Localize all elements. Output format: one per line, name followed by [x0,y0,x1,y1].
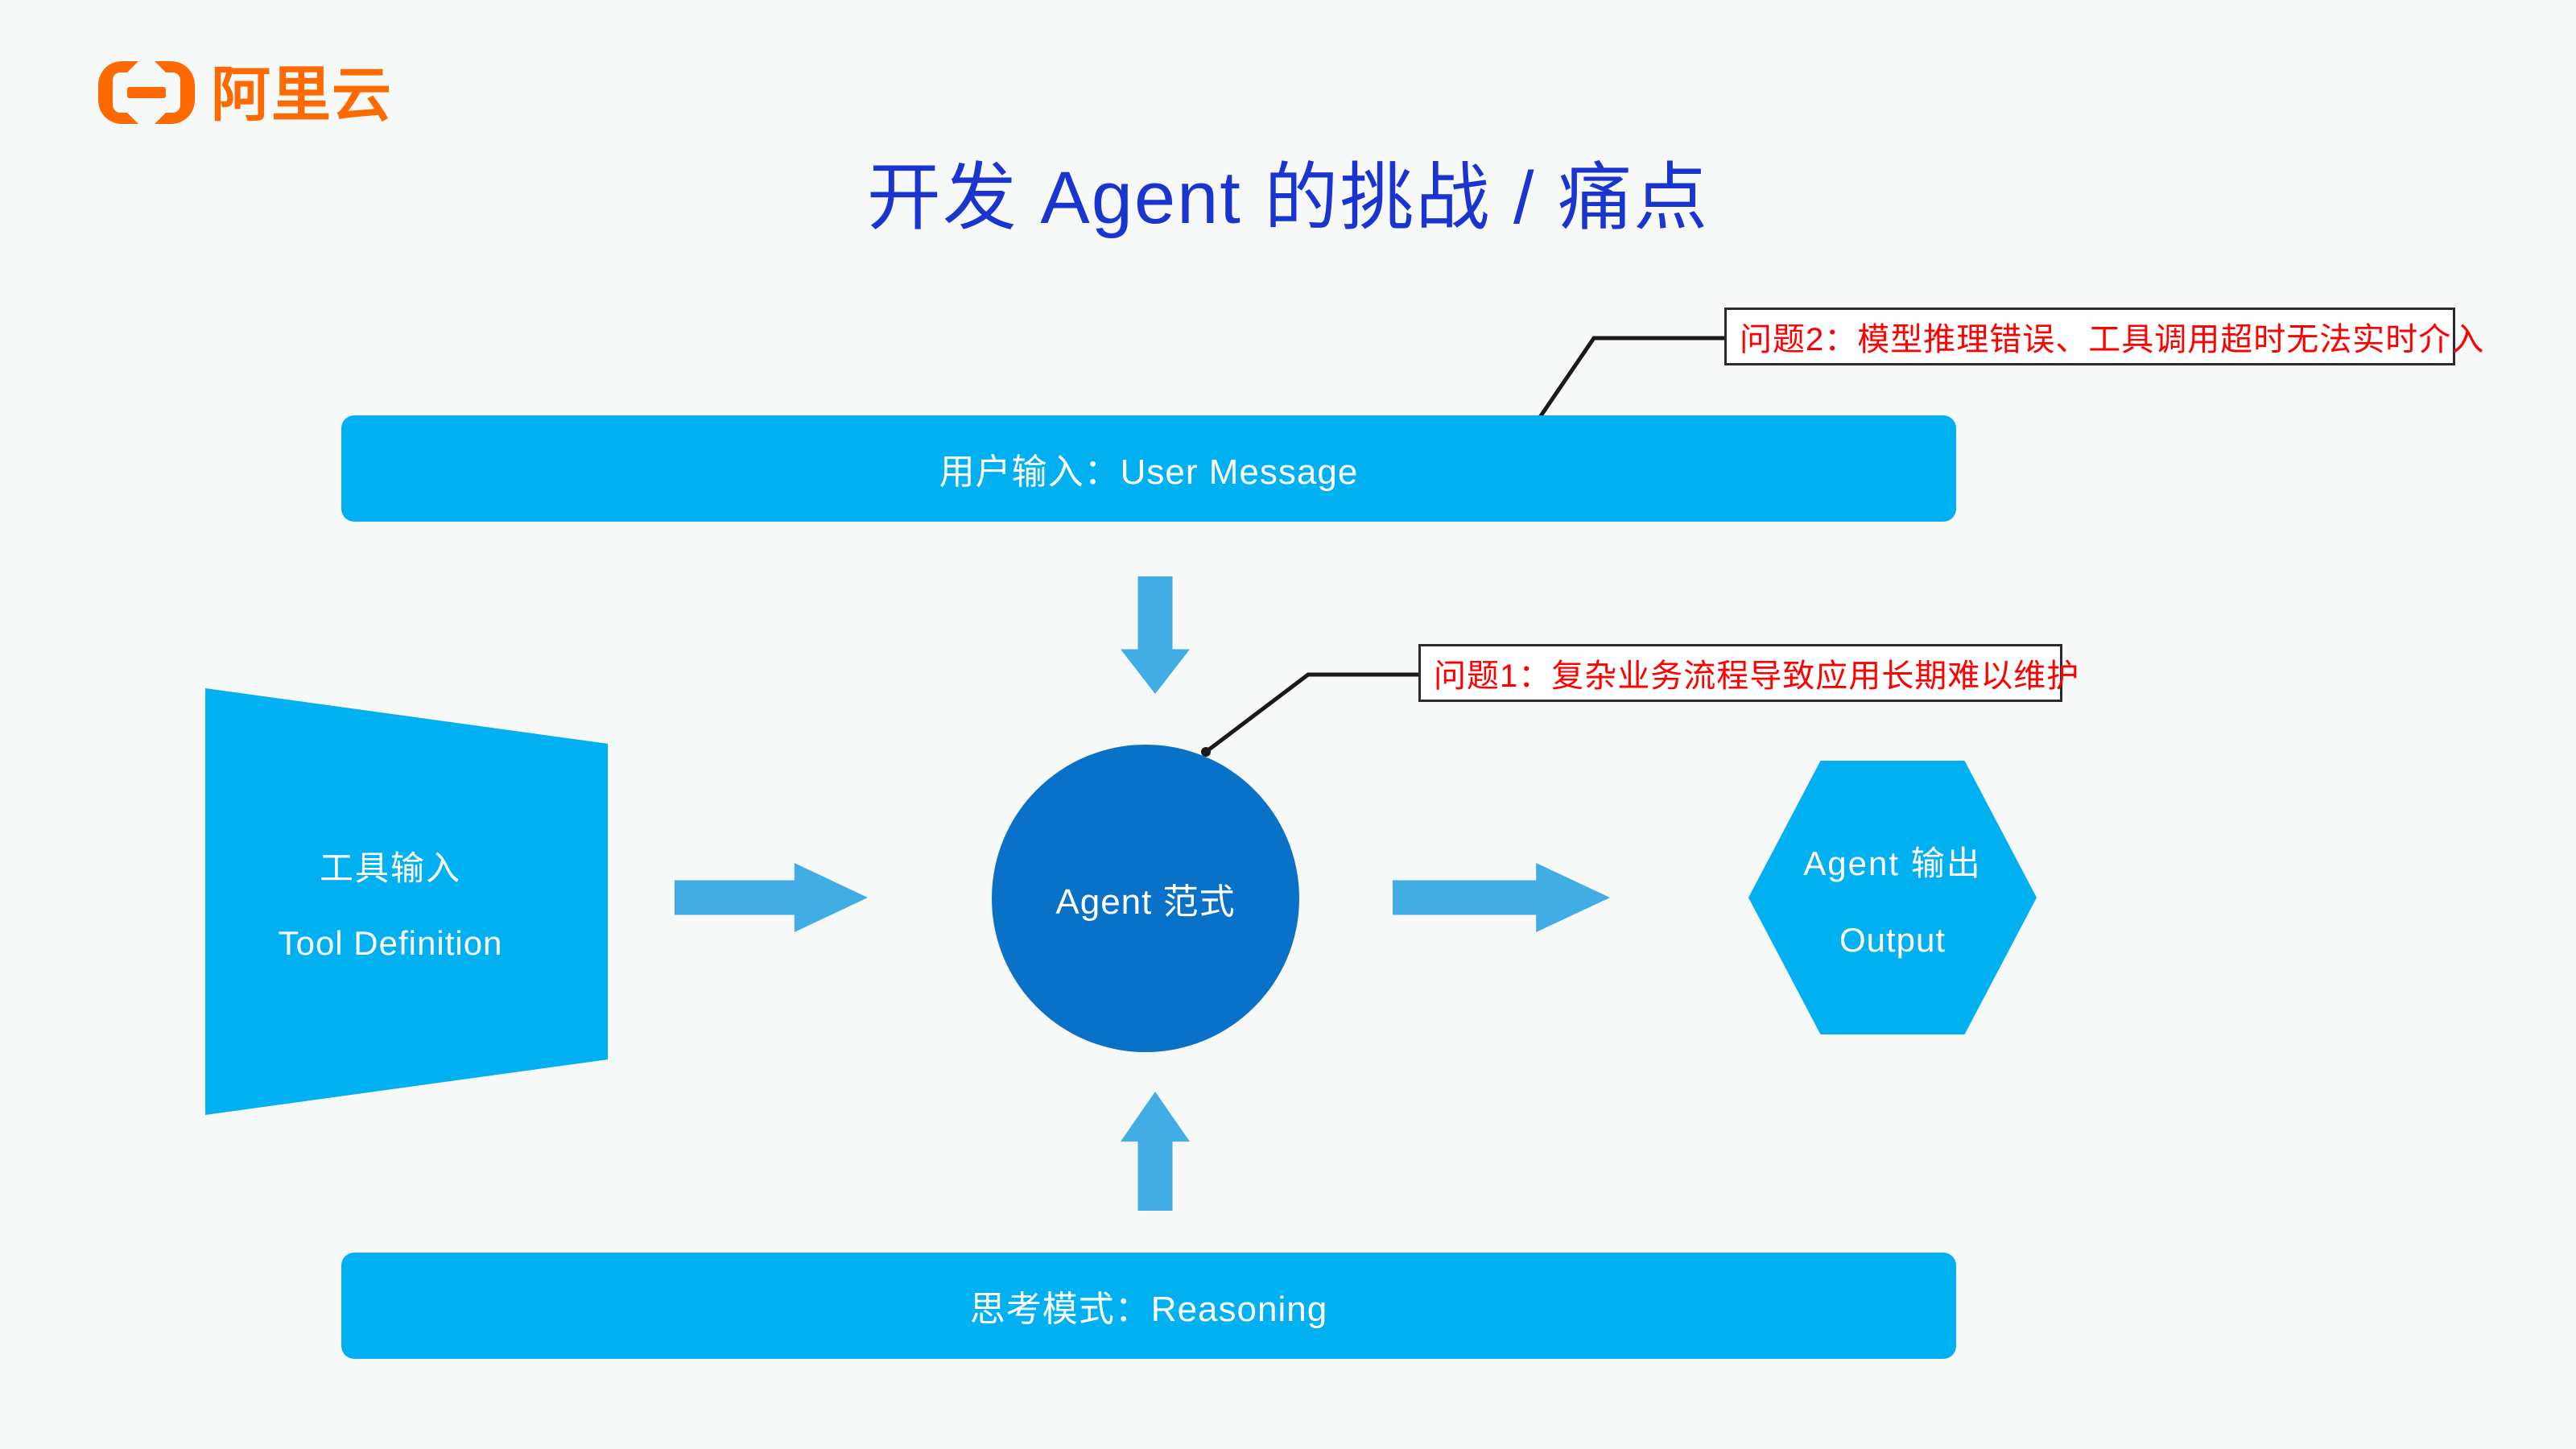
reasoning-bar-label: 思考模式：Reasoning [970,1280,1327,1331]
callout-problem-1-text: 问题1：复杂业务流程导致应用长期难以维护 [1434,650,2079,696]
slide-canvas: 阿里云 开发 Agent 的挑战 / 痛点 用户输入：User Message … [0,0,2576,1449]
agent-output-label-cn: Agent 输出 [1803,836,1981,885]
callout-problem-1: 问题1：复杂业务流程导致应用长期难以维护 [1418,644,2062,702]
alibaba-cloud-logo-icon [98,61,195,128]
brand-wordmark: 阿里云 [211,65,392,125]
page-title: 开发 Agent 的挑战 / 痛点 [0,158,2576,239]
arrow-right-agent-to-output-icon [1393,863,1610,932]
agent-output-label-en: Output [1839,921,1946,960]
agent-output-shape[interactable]: Agent 输出 Output [1748,761,2037,1034]
user-input-bar[interactable]: 用户输入：User Message [341,415,1956,522]
tool-input-label-cn: 工具输入 [320,841,461,890]
callout-problem-2: 问题2：模型推理错误、工具调用超时无法实时介入 [1724,308,2455,365]
reasoning-bar[interactable]: 思考模式：Reasoning [341,1253,1956,1359]
callout-problem-2-text: 问题2：模型推理错误、工具调用超时无法实时介入 [1740,313,2484,360]
tool-input-label-en: Tool Definition [279,924,503,963]
agent-output-labels: Agent 输出 Output [1748,761,2037,1034]
brand-logo: 阿里云 [98,61,392,128]
arrow-up-reasoning-to-agent-icon [1121,1092,1190,1211]
tool-input-labels: 工具输入 Tool Definition [205,688,576,1115]
user-input-bar-label: 用户输入：User Message [939,443,1359,494]
arrow-down-input-to-agent-icon [1121,576,1190,694]
tool-input-shape[interactable]: 工具输入 Tool Definition [205,688,608,1115]
arrow-right-tool-to-agent-icon [675,863,868,932]
agent-core-shape[interactable]: Agent 范式 [992,745,1299,1052]
agent-core-label: Agent 范式 [1055,873,1235,924]
